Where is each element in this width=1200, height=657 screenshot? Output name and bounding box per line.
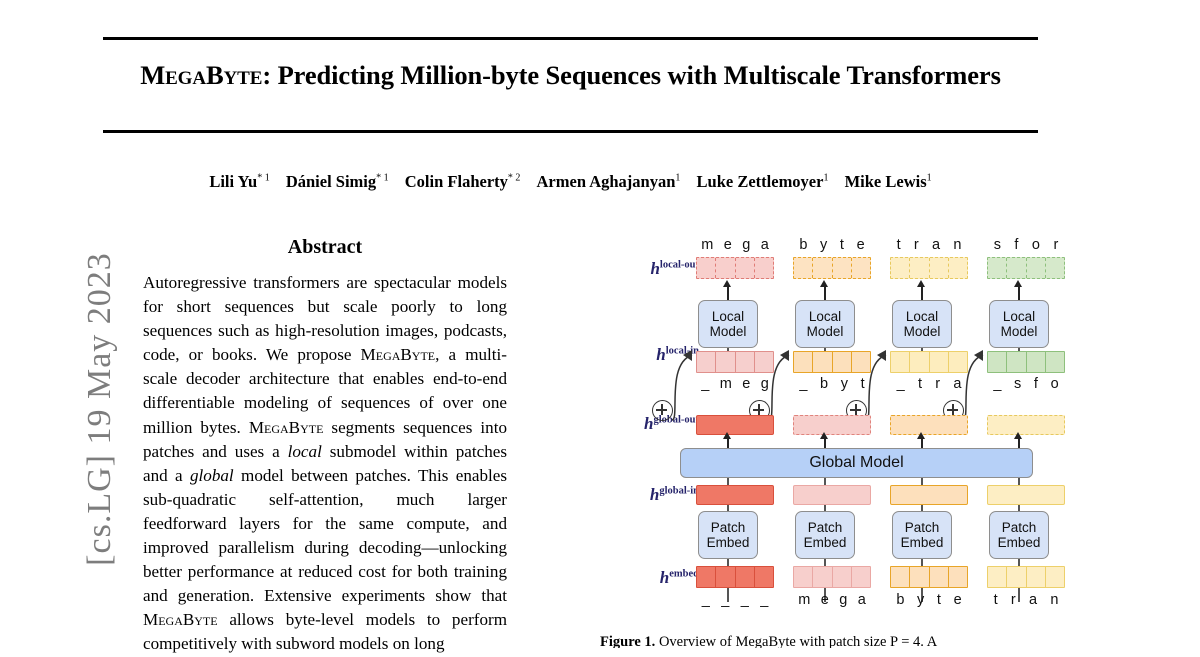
top-tokens-group-3: t r a n xyxy=(890,237,968,253)
page-title: MegaByte: Predicting Million-byte Sequen… xyxy=(103,60,1038,91)
token-char: t xyxy=(987,592,1004,608)
author-name: Colin Flaherty xyxy=(405,172,508,191)
local-model-label-line1: Local xyxy=(712,309,744,324)
local-model-box-1[interactable]: LocalModel xyxy=(698,300,758,348)
patch-embed-box-3[interactable]: PatchEmbed xyxy=(892,511,952,559)
patch-embed-label-line2: Embed xyxy=(804,535,847,550)
combine-plus-icon-1 xyxy=(652,400,673,421)
author-entry: Armen Aghajanyan1 xyxy=(537,172,681,191)
patch-embed-box-2[interactable]: PatchEmbed xyxy=(795,511,855,559)
h-superscript: local-out xyxy=(660,259,699,270)
figure-caption-number: Figure 1. xyxy=(600,634,655,648)
architecture-figure: hlocal-out hlocal-in hglobal-out hglobal… xyxy=(600,232,1070,632)
token-char: t xyxy=(834,237,851,253)
token-char: r xyxy=(1047,237,1065,253)
token-char: m xyxy=(696,237,719,253)
global-out-bar-1 xyxy=(696,415,774,435)
token-char: b xyxy=(890,592,911,608)
token-char: e xyxy=(850,237,871,253)
author-marks: * 1 xyxy=(376,173,389,184)
abstract-section: Abstract Autoregressive transformers are… xyxy=(143,236,507,657)
token-char: y xyxy=(814,237,834,253)
top-tokens-group-4: s f o r xyxy=(987,237,1065,253)
author-marks: 1 xyxy=(927,173,932,184)
abstract-emphasis-global: global xyxy=(190,466,234,485)
token-char: a xyxy=(1022,592,1043,608)
token-char: o xyxy=(1025,237,1047,253)
patch-embed-label-line1: Patch xyxy=(808,520,843,535)
author-marks: 1 xyxy=(823,173,828,184)
bottom-tokens-group-3: b y t e xyxy=(890,592,968,608)
local-out-block-2 xyxy=(793,257,871,279)
author-marks: 1 xyxy=(675,173,680,184)
bottom-tokens-group-4: t r a n xyxy=(987,592,1065,608)
token-char: s xyxy=(987,237,1008,253)
author-entry: Luke Zettlemoyer1 xyxy=(697,172,829,191)
patch-embed-label-line2: Embed xyxy=(998,535,1041,550)
abstract-model-name: MegaByte xyxy=(249,418,324,437)
title-model-name: MegaByte xyxy=(140,60,262,90)
arxiv-stamp: [cs.LG] 19 May 2023 xyxy=(81,199,119,619)
patch-embed-label-line2: Embed xyxy=(707,535,750,550)
author-entry: Mike Lewis1 xyxy=(845,172,932,191)
token-char: n xyxy=(947,237,968,253)
title-remainder: : Predicting Million-byte Sequences with… xyxy=(262,60,1000,90)
token-char: a xyxy=(925,237,946,253)
label-h-embed: hembed xyxy=(604,568,699,588)
global-in-bar-2 xyxy=(793,485,871,505)
global-in-bar-4 xyxy=(987,485,1065,505)
global-model-label: Global Model xyxy=(809,455,903,471)
bottom-tokens-group-2: m e g a xyxy=(793,592,871,608)
embed-block-1 xyxy=(696,566,774,588)
token-char: _ xyxy=(696,592,716,608)
bottom-tokens-group-1: _ _ _ _ xyxy=(696,592,774,608)
h-symbol: h xyxy=(650,485,659,504)
token-char: e xyxy=(816,592,835,608)
abstract-model-name: MegaByte xyxy=(143,610,218,629)
token-char: e xyxy=(947,592,968,608)
embed-block-4 xyxy=(987,566,1065,588)
token-char: r xyxy=(907,237,925,253)
label-h-global-in: hglobal-in xyxy=(599,485,699,505)
title-rule-bottom xyxy=(103,130,1038,133)
abstract-body: Autoregressive transformers are spectacu… xyxy=(143,271,507,657)
local-model-label-line2: Model xyxy=(1001,324,1038,339)
global-out-bar-4 xyxy=(987,415,1065,435)
token-char: t xyxy=(890,237,907,253)
token-char: _ xyxy=(716,592,736,608)
author-marks: * 2 xyxy=(508,173,521,184)
global-out-bar-2 xyxy=(793,415,871,435)
token-char: y xyxy=(911,592,931,608)
patch-embed-box-4[interactable]: PatchEmbed xyxy=(989,511,1049,559)
token-char: _ xyxy=(735,592,755,608)
local-out-block-1 xyxy=(696,257,774,279)
patch-embed-label-line2: Embed xyxy=(901,535,944,550)
abstract-heading: Abstract xyxy=(143,236,507,259)
author-name: Luke Zettlemoyer xyxy=(697,172,824,191)
global-model-box[interactable]: Global Model xyxy=(680,448,1033,478)
author-entry: Dániel Simig* 1 xyxy=(286,172,389,191)
author-name: Armen Aghajanyan xyxy=(537,172,676,191)
author-name: Dániel Simig xyxy=(286,172,376,191)
patch-embed-box-1[interactable]: PatchEmbed xyxy=(698,511,758,559)
token-char: g xyxy=(737,237,756,253)
figure-caption-text: Overview of MegaByte with patch size P =… xyxy=(655,634,937,648)
local-model-label-line2: Model xyxy=(807,324,844,339)
local-model-label-line1: Local xyxy=(906,309,938,324)
token-char: n xyxy=(1044,592,1065,608)
author-marks: * 1 xyxy=(257,173,270,184)
local-model-label-line2: Model xyxy=(904,324,941,339)
token-char: e xyxy=(719,237,738,253)
abstract-text: model between patches. This enables sub-… xyxy=(143,466,507,605)
local-model-label-line2: Model xyxy=(710,324,747,339)
token-char: b xyxy=(793,237,814,253)
global-in-bar-3 xyxy=(890,485,968,505)
title-rule-top xyxy=(103,37,1038,40)
embed-block-3 xyxy=(890,566,968,588)
author-entry: Colin Flaherty* 2 xyxy=(405,172,521,191)
local-model-box-2[interactable]: LocalModel xyxy=(795,300,855,348)
global-out-bar-3 xyxy=(890,415,968,435)
figure-caption: Figure 1. Overview of MegaByte with patc… xyxy=(600,634,1070,648)
patch-embed-label-line1: Patch xyxy=(711,520,746,535)
author-name: Lili Yu xyxy=(209,172,257,191)
patch-embed-label-line1: Patch xyxy=(905,520,940,535)
local-out-block-4 xyxy=(987,257,1065,279)
h-superscript: global-in xyxy=(659,485,699,496)
author-list: Lili Yu* 1 Dániel Simig* 1 Colin Flahert… xyxy=(103,172,1038,192)
local-model-label-line1: Local xyxy=(1003,309,1035,324)
global-in-bar-1 xyxy=(696,485,774,505)
token-char: a xyxy=(853,592,872,608)
token-char: t xyxy=(931,592,948,608)
token-char: _ xyxy=(755,592,775,608)
local-model-label-line1: Local xyxy=(809,309,841,324)
patch-embed-label-line1: Patch xyxy=(1002,520,1037,535)
h-symbol: h xyxy=(650,259,659,278)
abstract-emphasis-local: local xyxy=(288,442,322,461)
local-out-block-3 xyxy=(890,257,968,279)
token-char: g xyxy=(834,592,853,608)
embed-block-2 xyxy=(793,566,871,588)
token-char: f xyxy=(1008,237,1025,253)
token-char: r xyxy=(1004,592,1022,608)
local-model-box-3[interactable]: LocalModel xyxy=(892,300,952,348)
author-name: Mike Lewis xyxy=(845,172,927,191)
top-tokens-group-2: b y t e xyxy=(793,237,871,253)
h-superscript: embed xyxy=(669,568,699,579)
label-h-local-out: hlocal-out xyxy=(599,259,699,279)
h-symbol: h xyxy=(660,568,669,587)
paper-page: [cs.LG] 19 May 2023 MegaByte: Predicting… xyxy=(0,0,1200,648)
top-tokens-group-1: m e g a xyxy=(696,237,774,253)
local-model-box-4[interactable]: LocalModel xyxy=(989,300,1049,348)
abstract-model-name: MegaByte xyxy=(361,345,436,364)
author-entry: Lili Yu* 1 xyxy=(209,172,269,191)
token-char: m xyxy=(793,592,816,608)
token-char: a xyxy=(756,237,775,253)
